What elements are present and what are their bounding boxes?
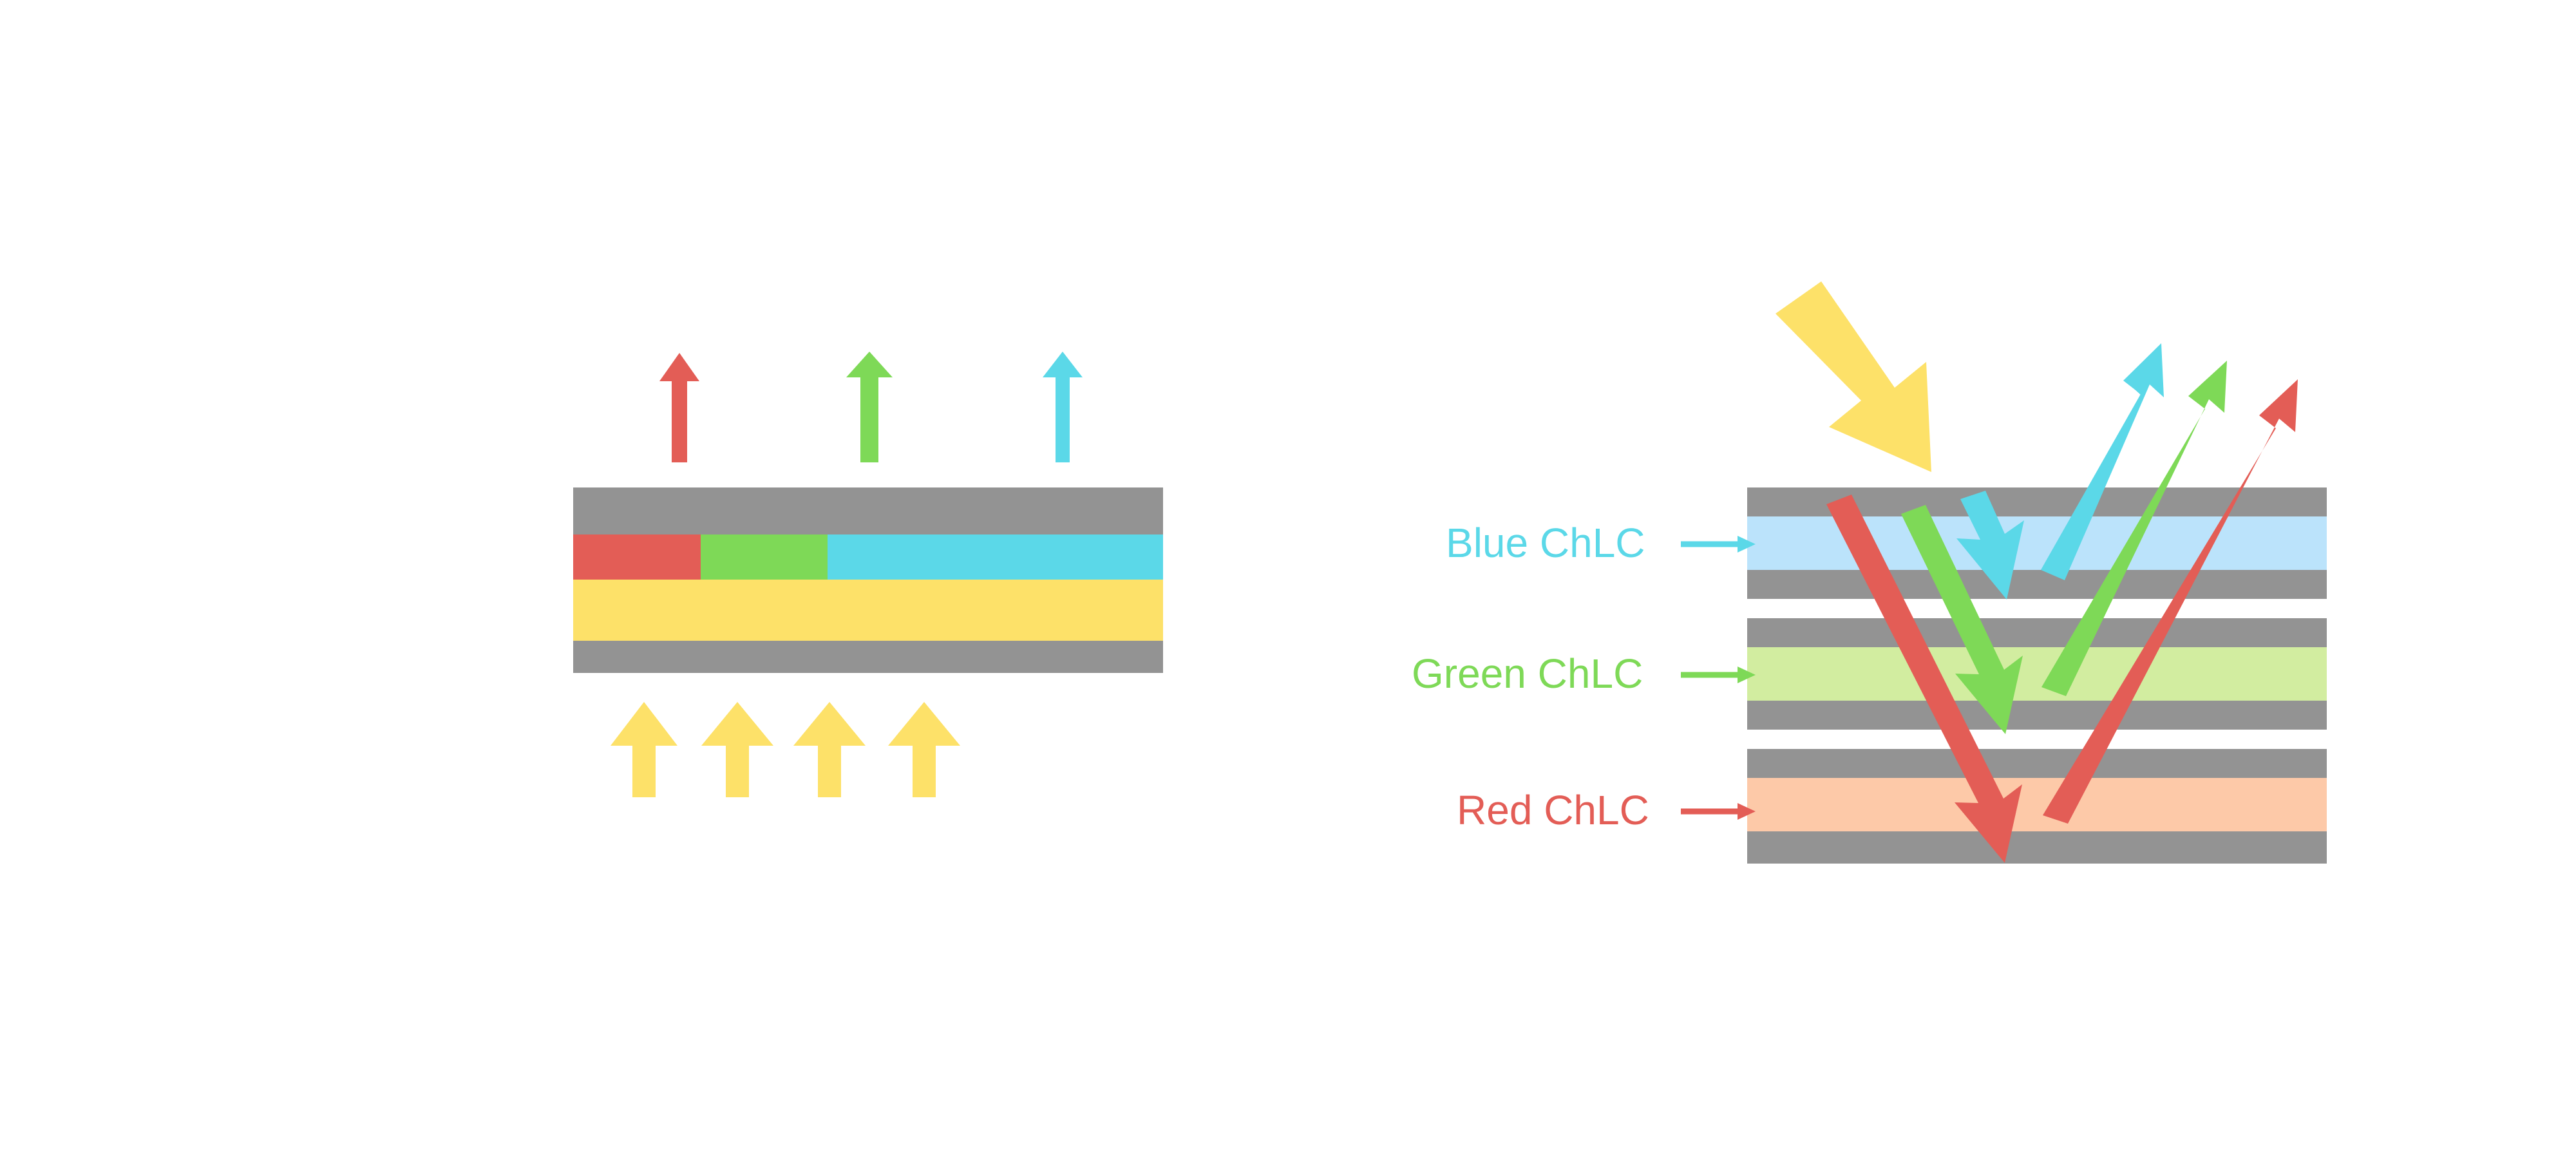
green-cell-top-electrode <box>1747 618 2327 647</box>
right-panel: Blue ChLC Green ChLC Red ChLC <box>1288 0 2576 1154</box>
left-stack <box>573 487 1163 673</box>
blue-chlc-layer <box>1747 516 2327 570</box>
blue-filter <box>828 534 1163 580</box>
label-blue-chlc: Blue ChLC <box>1446 520 1756 566</box>
green-chlc-layer <box>1747 647 2327 701</box>
diagram-canvas: Blue ChLC Green ChLC Red ChLC <box>0 0 2576 1154</box>
chlc-stack <box>1747 487 2327 864</box>
label-green-chlc-text: Green ChLC <box>1412 650 1643 697</box>
bottom-electrode <box>573 641 1163 673</box>
green-filter <box>701 534 828 580</box>
red-chlc-layer <box>1747 778 2327 831</box>
label-green-chlc: Green ChLC <box>1412 650 1756 697</box>
label-red-chlc-text: Red ChLC <box>1457 787 1649 833</box>
white-light-incident-arrow <box>1776 281 1931 472</box>
left-panel-svg <box>0 0 1288 1154</box>
red-cell-bottom-electrode <box>1747 831 2327 864</box>
backlight-arrow <box>611 702 677 797</box>
backlight-arrow <box>793 702 866 797</box>
green-emission-arrow <box>846 352 893 462</box>
backlight-arrow <box>701 702 773 797</box>
color-filter-row <box>573 534 1163 580</box>
red-cell-top-electrode <box>1747 749 2327 778</box>
red-emission-arrow <box>659 353 699 462</box>
green-cell-bottom-electrode <box>1747 701 2327 730</box>
red-filter <box>573 534 701 580</box>
label-blue-chlc-text: Blue ChLC <box>1446 520 1645 566</box>
top-electrode <box>573 487 1163 534</box>
backlight-layer <box>573 580 1163 641</box>
backlight-arrows <box>611 702 960 797</box>
label-red-chlc: Red ChLC <box>1457 787 1756 833</box>
left-panel <box>0 0 1288 1154</box>
blue-cell-bottom-electrode <box>1747 570 2327 599</box>
blue-emission-arrow <box>1043 352 1083 462</box>
right-panel-svg: Blue ChLC Green ChLC Red ChLC <box>1288 0 2576 1154</box>
backlight-arrow <box>888 702 960 797</box>
